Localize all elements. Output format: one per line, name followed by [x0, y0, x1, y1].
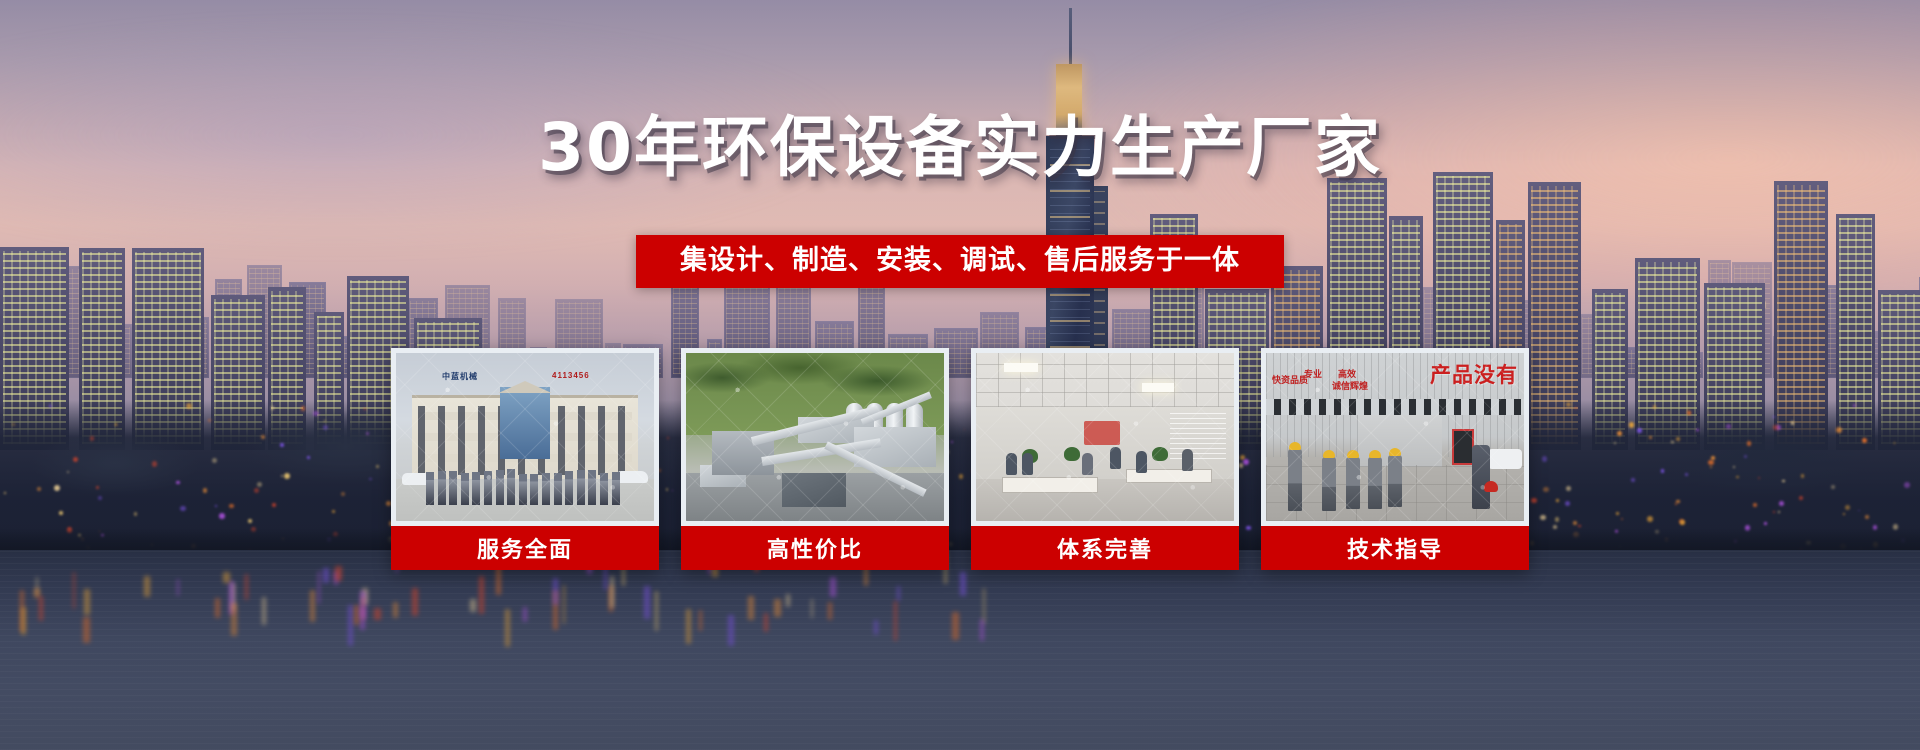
- photo-person: [1022, 453, 1033, 475]
- photo-light-panel: [1004, 363, 1038, 372]
- photo-ceiling: [976, 353, 1234, 407]
- banner-subtitle: 集设计、制造、安装、调试、售后服务于一体: [636, 235, 1284, 288]
- photo-person: [1136, 451, 1147, 473]
- card-caption: 体系完善: [971, 526, 1239, 570]
- photo-red-helmet: [1484, 481, 1498, 492]
- photo-desk: [1002, 477, 1098, 493]
- banner-headline: 30年环保设备实力生产厂家: [0, 115, 1920, 181]
- card-caption: 高性价比: [681, 526, 949, 570]
- photo-staff-person: [461, 473, 469, 505]
- photo-building-atrium: [500, 387, 550, 459]
- photo-staff-person: [472, 472, 480, 505]
- photo-window-band: [1266, 399, 1524, 415]
- photo-person: [1006, 453, 1017, 475]
- photo-worker: [1288, 449, 1302, 511]
- photo-person: [1082, 453, 1093, 475]
- photo-person: [1110, 447, 1121, 469]
- photo-light-panel: [1142, 383, 1174, 392]
- building-sign-text: 中蓝机械: [442, 371, 478, 382]
- card-caption: 服务全面: [391, 526, 659, 570]
- feature-card[interactable]: 中蓝机械 4113456 服务全面: [391, 348, 659, 570]
- photo-staff-person: [426, 472, 434, 505]
- aerial-plant-photo: [686, 353, 944, 521]
- photo-van: [1488, 449, 1522, 469]
- photo-shed: [782, 473, 846, 507]
- photo-staff-person: [519, 474, 527, 505]
- photo-supervisor: [1472, 445, 1490, 509]
- photo-staff-person: [530, 474, 538, 505]
- photo-wall-logo: [1084, 421, 1120, 445]
- photo-worker: [1346, 457, 1360, 509]
- feature-card[interactable]: 高性价比: [681, 348, 949, 570]
- factory-slogan-text: 高效: [1338, 369, 1356, 380]
- office-interior-photo: [976, 353, 1234, 521]
- photo-window: [1170, 411, 1226, 459]
- hero-banner: WESTIN HOTEL 30年环保设备实力生产厂家 集设计、制造、安装、调试、…: [0, 0, 1920, 750]
- photo-worker: [1368, 457, 1382, 509]
- feature-card[interactable]: 体系完善: [971, 348, 1239, 570]
- photo-worker: [1322, 457, 1336, 511]
- photo-staff-person: [449, 471, 457, 505]
- photo-side-door: [1452, 429, 1474, 465]
- photo-staff-person: [542, 473, 550, 505]
- subtitle-wrapper: 集设计、制造、安装、调试、售后服务于一体: [0, 235, 1920, 288]
- photo-staff-person: [577, 470, 585, 505]
- feature-card[interactable]: 产品没有 快资品质 专业 高效 诚信辉煌: [1261, 348, 1529, 570]
- photo-staff-person: [554, 473, 562, 505]
- building-phone-text: 4113456: [552, 371, 590, 380]
- factory-slogan-text: 专业: [1304, 369, 1322, 380]
- photo-staff-person: [496, 470, 504, 505]
- photo-plant: [1064, 447, 1080, 461]
- factory-workers-photo: 产品没有 快资品质 专业 高效 诚信辉煌: [1266, 353, 1524, 521]
- photo-staff-person: [600, 473, 608, 505]
- photo-staff-person: [588, 470, 596, 505]
- photo-staff-person: [484, 471, 492, 505]
- card-caption: 技术指导: [1261, 526, 1529, 570]
- factory-slogan-text: 诚信辉煌: [1332, 381, 1368, 392]
- factory-banner-text: 产品没有: [1430, 359, 1518, 389]
- photo-staff-person: [438, 471, 446, 505]
- feature-card-list: 中蓝机械 4113456 服务全面: [0, 348, 1920, 570]
- photo-staff-row: [426, 465, 626, 505]
- photo-staff-person: [612, 472, 620, 505]
- banner-content: 30年环保设备实力生产厂家 集设计、制造、安装、调试、售后服务于一体 中蓝机械 …: [0, 0, 1920, 750]
- photo-person: [1182, 449, 1193, 471]
- photo-staff-person: [507, 469, 515, 505]
- factory-slogan-text: 快资品质: [1272, 375, 1308, 386]
- photo-plant: [1152, 447, 1168, 461]
- office-building-staff-photo: 中蓝机械 4113456: [396, 353, 654, 521]
- photo-worker: [1388, 455, 1402, 507]
- photo-staff-person: [565, 471, 573, 505]
